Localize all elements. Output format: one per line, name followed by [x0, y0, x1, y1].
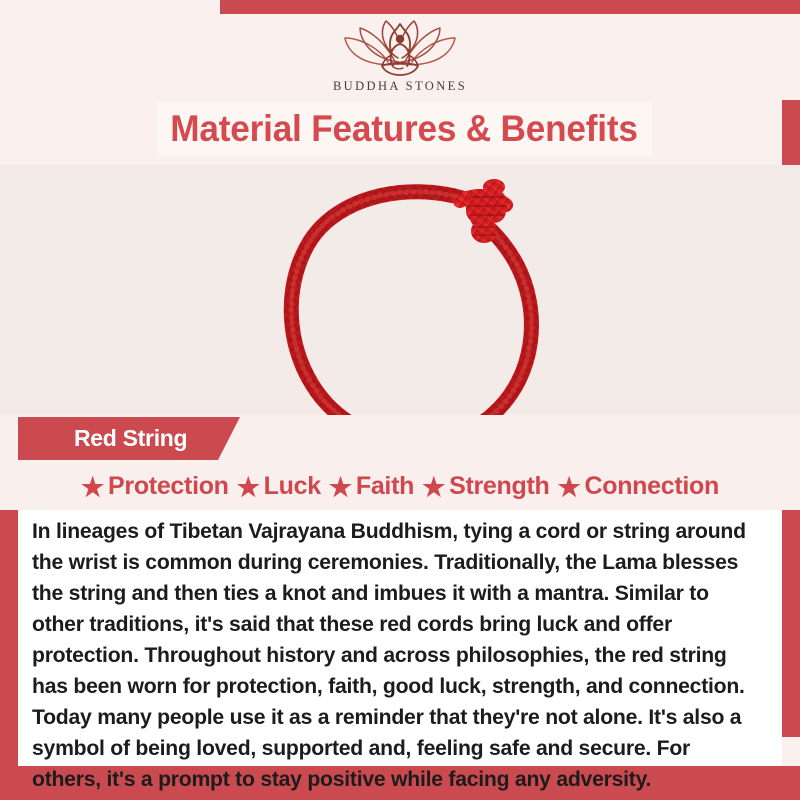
top-band-left-cutout — [0, 0, 220, 14]
features-row: ★ Protection ★ Luck ★ Faith ★ Strength ★… — [0, 463, 800, 510]
brand-name: BUDDHA STONES — [285, 79, 515, 94]
feature-label: Luck — [264, 472, 321, 501]
feature-item: ★ Connection — [553, 472, 723, 501]
infographic-root: BUDDHA STONES Material Features & Benefi… — [0, 0, 800, 800]
star-icon: ★ — [81, 474, 104, 500]
product-stage — [0, 165, 800, 415]
feature-label: Protection — [108, 472, 229, 501]
feature-item: ★ Luck — [233, 472, 325, 501]
feature-item: ★ Protection — [77, 472, 233, 501]
star-icon: ★ — [329, 474, 352, 500]
header: BUDDHA STONES — [0, 14, 800, 100]
feature-label: Faith — [356, 472, 414, 501]
product-label-banner: Red String — [18, 417, 240, 460]
brand-logo: BUDDHA STONES — [285, 16, 515, 94]
feature-label: Connection — [584, 472, 719, 501]
star-icon: ★ — [422, 474, 445, 500]
title-banner: Material Features & Benefits — [157, 103, 652, 155]
lotus-meditation-figure-icon — [339, 16, 461, 78]
product-stage-inner — [18, 165, 782, 415]
star-icon: ★ — [237, 474, 260, 500]
description-paragraph: In lineages of Tibetan Vajrayana Buddhis… — [32, 516, 753, 795]
feature-item: ★ Strength — [418, 472, 553, 501]
page-title: Material Features & Benefits — [171, 108, 638, 150]
description-block: In lineages of Tibetan Vajrayana Buddhis… — [18, 510, 782, 766]
feature-item: ★ Faith — [325, 472, 418, 501]
feature-label: Strength — [449, 472, 549, 501]
star-icon: ★ — [557, 474, 580, 500]
product-label-text: Red String — [74, 425, 187, 452]
